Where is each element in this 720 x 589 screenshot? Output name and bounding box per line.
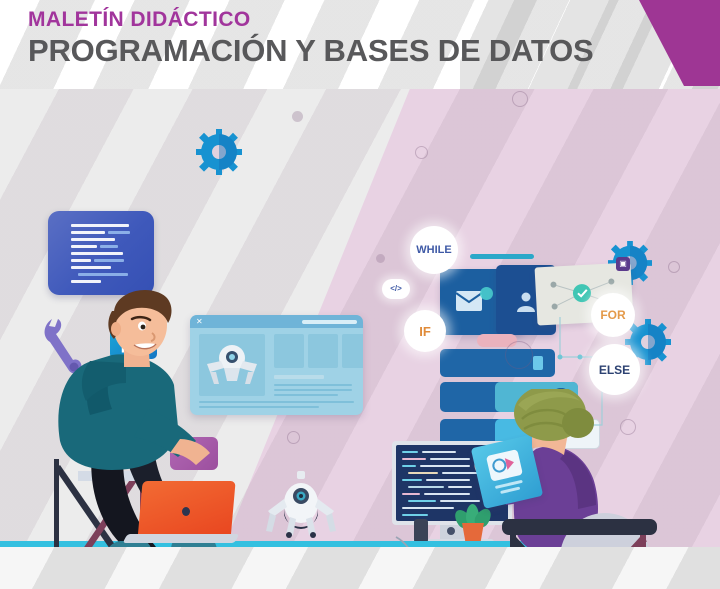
keyword-badge-while: WHILE (410, 226, 458, 274)
code-tag-badge: </> (382, 279, 410, 299)
decor-ring (505, 341, 533, 369)
browser-text-line (274, 384, 352, 386)
decor-ring (415, 146, 428, 159)
developer-man (28, 289, 258, 589)
decor-ring (512, 91, 528, 107)
browser-text-line (274, 394, 338, 396)
keyword-badge-for: FOR (591, 293, 635, 337)
tablet-text-line (500, 487, 520, 494)
browser-thumbnail[interactable] (342, 334, 363, 368)
browser-thumbnail[interactable] (274, 334, 304, 368)
browser-text-line (274, 389, 352, 391)
browser-thumbnail[interactable] (308, 334, 338, 368)
gear-icon (196, 129, 242, 175)
poster-header: MALETÍN DIDÁCTICO PROGRAMACIÓN Y BASES D… (0, 0, 720, 89)
ui-row-card[interactable] (440, 349, 555, 377)
ui-card-bar (470, 254, 534, 259)
document-badge-icon[interactable]: ▣ (616, 257, 630, 271)
header-kicker: MALETÍN DIDÁCTICO (28, 8, 594, 33)
user-icon (514, 289, 538, 313)
card-highlight-dot (480, 287, 493, 300)
decor-dot (376, 254, 385, 263)
laptop-logo (182, 507, 190, 516)
keyword-label: ELSE (599, 363, 630, 377)
decor-ring (668, 261, 680, 273)
envelope-icon (456, 291, 482, 311)
laptop-base (123, 534, 240, 543)
address-bar[interactable] (302, 320, 357, 324)
floor (0, 547, 720, 589)
keyword-label: WHILE (416, 244, 451, 256)
keyword-label: FOR (600, 308, 625, 322)
poster-page: MALETÍN DIDÁCTICO PROGRAMACIÓN Y BASES D… (0, 0, 720, 589)
keyword-label: IF (419, 324, 431, 339)
page-title: PROGRAMACIÓN Y BASES DE DATOS (28, 34, 594, 69)
decor-dot (292, 111, 303, 122)
browser-text-line (274, 375, 324, 379)
code-window-icon (48, 211, 154, 295)
keyword-badge-else: ELSE (589, 344, 640, 395)
tablet-app-icon (486, 449, 523, 482)
floor-stripes (0, 547, 720, 589)
keyword-badge-if: IF (404, 310, 446, 352)
photo-icon (486, 449, 523, 482)
monitor-power-button (447, 527, 455, 535)
decor-ring (287, 431, 300, 444)
header-text-block: MALETÍN DIDÁCTICO PROGRAMACIÓN Y BASES D… (28, 8, 594, 68)
illustration-scene: [ ] </> (0, 89, 720, 589)
